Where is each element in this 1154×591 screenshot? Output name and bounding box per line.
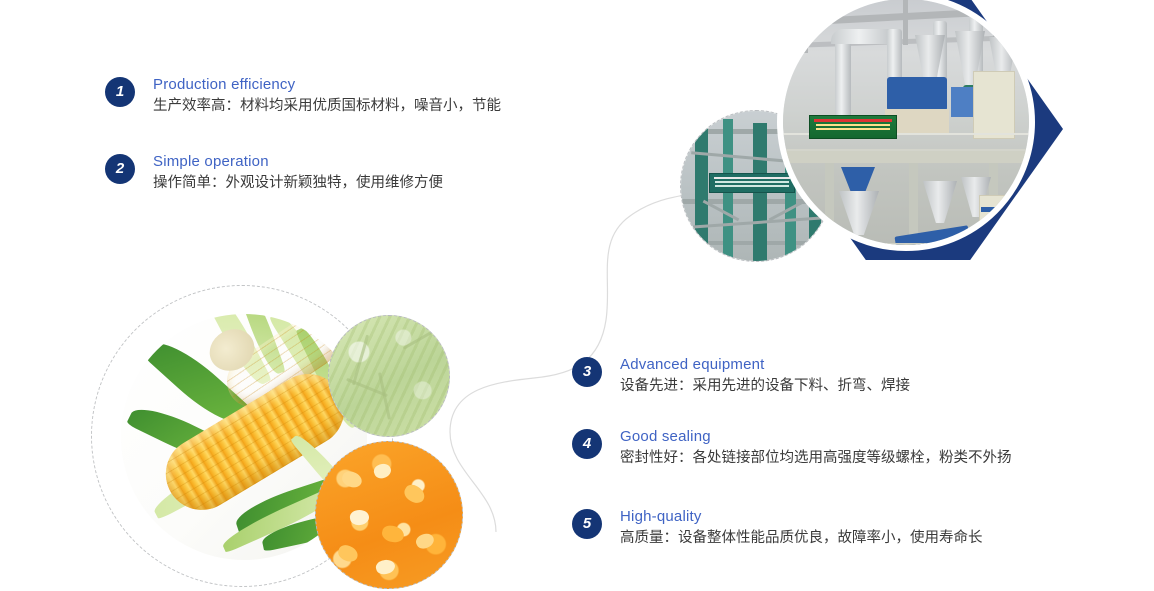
feature-desc-5: 高质量：设备整体性能品质优良，故障率小，使用寿命长: [620, 527, 983, 549]
corn-grits-photo: [315, 441, 463, 589]
hexagon-photo-group: [660, 0, 1080, 264]
feature-item-4: 4 Good sealing 密封性好：各处链接部位均选用高强度等级螺栓，粉类不…: [572, 427, 1012, 469]
feature-title-2: Simple operation: [153, 152, 443, 171]
feature-title-5: High-quality: [620, 507, 983, 526]
feature-item-2: 2 Simple operation 操作简单：外观设计新颖独特，使用维修方便: [105, 152, 443, 194]
feature-badge-3: 3: [572, 357, 602, 387]
feature-desc-3: 设备先进：采用先进的设备下料、折弯、焊接: [620, 375, 910, 397]
feature-desc-2: 操作简单：外观设计新颖独特，使用维修方便: [153, 172, 443, 194]
infographic-page: 1 Production efficiency 生产效率高：材料均采用优质国标材…: [0, 0, 1154, 591]
feature-title-1: Production efficiency: [153, 75, 501, 94]
feature-badge-5: 5: [572, 509, 602, 539]
feature-desc-4: 密封性好：各处链接部位均选用高强度等级螺栓，粉类不外扬: [620, 447, 1012, 469]
feature-desc-1: 生产效率高：材料均采用优质国标材料，噪音小，节能: [153, 95, 501, 117]
corn-paste-photo: [328, 315, 450, 437]
corn-photo-group: [88, 282, 478, 591]
feature-item-5: 5 High-quality 高质量：设备整体性能品质优良，故障率小，使用寿命长: [572, 507, 983, 549]
feature-badge-4: 4: [572, 429, 602, 459]
feature-title-4: Good sealing: [620, 427, 1012, 446]
flour-milling-plant-photo: [777, 0, 1035, 251]
feature-badge-1: 1: [105, 77, 135, 107]
feature-item-3: 3 Advanced equipment 设备先进：采用先进的设备下料、折弯、焊…: [572, 355, 910, 397]
feature-item-1: 1 Production efficiency 生产效率高：材料均采用优质国标材…: [105, 75, 501, 117]
feature-badge-2: 2: [105, 154, 135, 184]
feature-title-3: Advanced equipment: [620, 355, 910, 374]
